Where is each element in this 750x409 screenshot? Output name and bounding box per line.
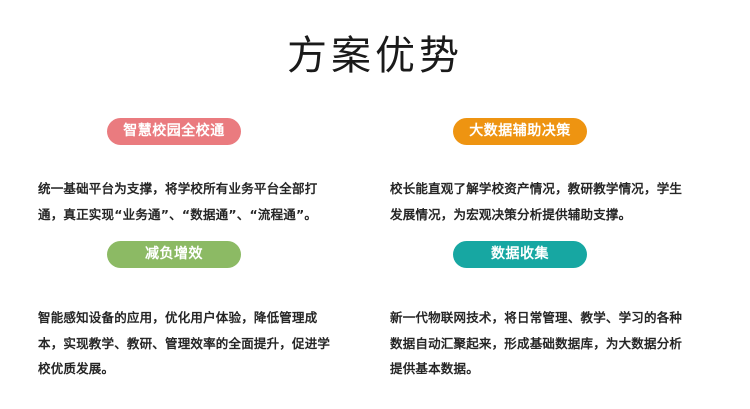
advantage-body-data-collection: 新一代物联网技术，将日常管理、教学、学习的各种数据自动汇聚起来，形成基础数据库，… [390, 305, 690, 382]
advantage-card-data-collection: 数据收集 新一代物联网技术，将日常管理、教学、学习的各种数据自动汇聚起来，形成基… [390, 241, 710, 382]
badge-row: 数据收集 [390, 241, 710, 287]
advantage-card-smart-campus: 智慧校园全校通 统一基础平台为支撑，将学校所有业务平台全部打通，真正实现“业务通… [38, 118, 358, 227]
advantage-card-big-data-decision: 大数据辅助决策 校长能直观了解学校资产情况，教研教学情况，学生发展情况，为宏观决… [390, 118, 710, 227]
advantage-body-burden-reduction: 智能感知设备的应用，优化用户体验，降低管理成本，实现教学、教研、管理效率的全面提… [38, 305, 338, 382]
badge-smart-campus[interactable]: 智慧校园全校通 [107, 118, 241, 145]
badge-row: 智慧校园全校通 [38, 118, 358, 164]
advantage-card-burden-reduction: 减负增效 智能感知设备的应用，优化用户体验，降低管理成本，实现教学、教研、管理效… [38, 241, 358, 382]
badge-big-data-decision[interactable]: 大数据辅助决策 [453, 118, 587, 145]
advantage-body-smart-campus: 统一基础平台为支撑，将学校所有业务平台全部打通，真正实现“业务通”、“数据通”、… [38, 176, 338, 227]
page-title: 方案优势 [0, 32, 750, 80]
badge-burden-reduction[interactable]: 减负增效 [107, 241, 241, 268]
advantage-body-big-data-decision: 校长能直观了解学校资产情况，教研教学情况，学生发展情况，为宏观决策分析提供辅助支… [390, 176, 690, 227]
slide-canvas: 方案优势 智慧校园全校通 统一基础平台为支撑，将学校所有业务平台全部打通，真正实… [0, 0, 750, 409]
badge-data-collection[interactable]: 数据收集 [453, 241, 587, 268]
badge-row: 大数据辅助决策 [390, 118, 710, 164]
badge-row: 减负增效 [38, 241, 358, 287]
